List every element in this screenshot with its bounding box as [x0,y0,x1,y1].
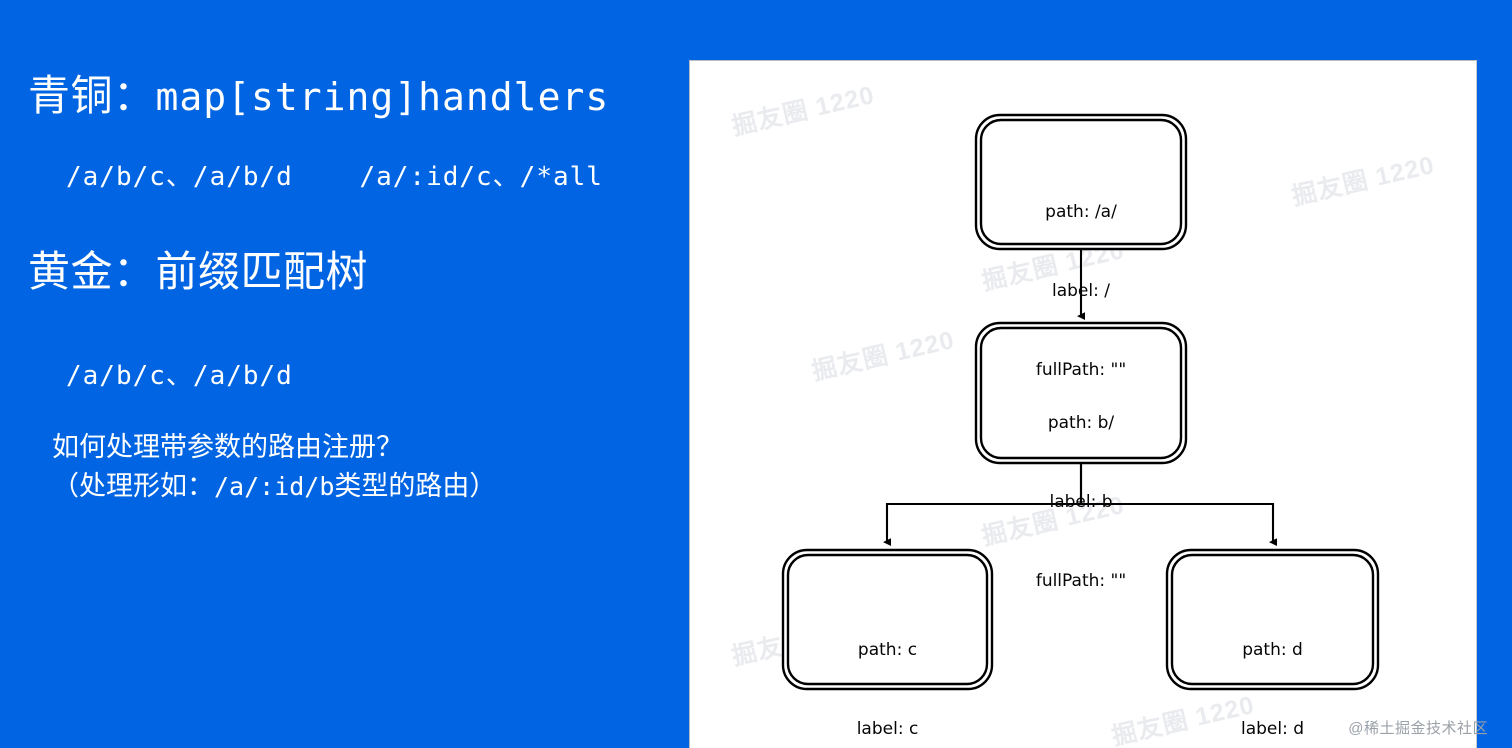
question-line-2-suffix: 类型的路由） [334,471,496,501]
question-line-1: 如何处理带参数的路由注册？ [52,432,403,462]
gold-heading: 黄金：前缀匹配树 [28,248,368,296]
tree-node-root[interactable] [976,115,1186,249]
question-block: 如何处理带参数的路由注册？ （处理形如：/a/:id/b类型的路由） [52,428,496,506]
bronze-heading-cjk: 青铜： [28,72,156,119]
left-text-column: 青铜：map[string]handlers /a/b/c、/a/b/d /a/… [0,0,689,748]
edge-b-to-c [887,464,1081,542]
corner-watermark: @稀土掘金技术社区 [1348,717,1488,738]
gold-heading-cjk: 黄金：前缀匹配树 [28,248,368,295]
tree-node-c[interactable] [783,550,992,689]
question-line-2-prefix: （处理形如： [52,471,214,501]
bronze-heading-mono: map[string]handlers [156,75,610,119]
slide-root: 青铜：map[string]handlers /a/b/c、/a/b/d /a/… [0,0,1512,748]
bronze-heading: 青铜：map[string]handlers [28,72,609,120]
question-line-2-path: /a/:id/b [214,472,334,501]
tree-graphic [690,61,1477,748]
gold-paths: /a/b/c、/a/b/d [66,355,293,392]
tree-node-b[interactable] [976,323,1186,463]
tree-node-d[interactable] [1167,550,1378,689]
edge-b-to-d [1081,464,1273,542]
bronze-paths: /a/b/c、/a/b/d /a/:id/c、/*all [66,156,603,193]
diagram-panel: 掘友圈 1220 掘友圈 1220 掘友圈 1220 掘友圈 1220 掘友圈 … [689,60,1477,748]
